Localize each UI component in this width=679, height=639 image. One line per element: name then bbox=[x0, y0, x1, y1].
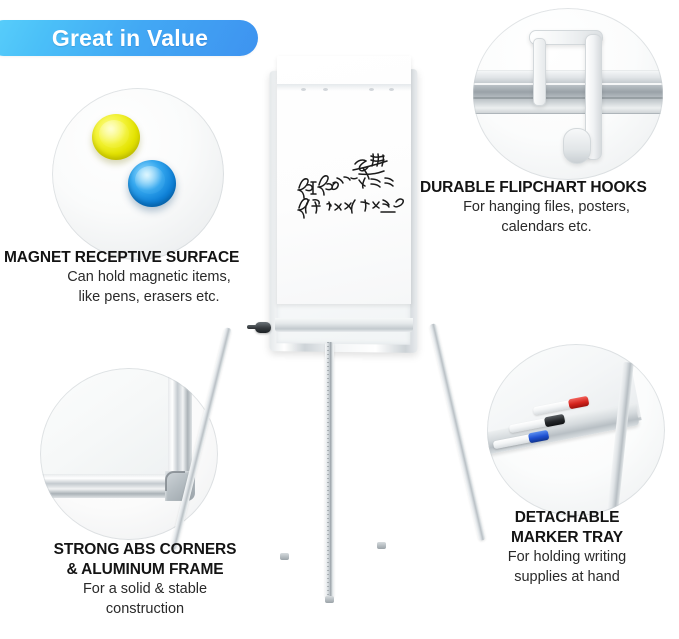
hook-left-bar bbox=[533, 38, 546, 106]
flipchart-paper-pad bbox=[277, 56, 411, 304]
leg-foot bbox=[377, 542, 386, 549]
marker-tray bbox=[275, 318, 413, 332]
feature-title: MAGNET RECEPTIVE SURFACE bbox=[4, 248, 280, 268]
infographic-canvas: Great in Value bbox=[0, 0, 679, 639]
board-surface bbox=[40, 368, 186, 478]
frame-corner-photo bbox=[40, 368, 218, 540]
feature-description-line-2: construction bbox=[16, 600, 274, 619]
feature-title-line-1: DETACHABLE bbox=[460, 508, 674, 528]
value-banner-label: Great in Value bbox=[36, 25, 208, 52]
feature-detachable-marker-tray: DETACHABLE MARKER TRAY For holding writi… bbox=[460, 508, 674, 587]
blue-magnet-icon bbox=[128, 160, 176, 207]
hook-tip bbox=[563, 128, 591, 164]
feature-description-line-2: calendars etc. bbox=[420, 218, 679, 237]
easel-leg-center bbox=[325, 342, 334, 598]
feature-title: DURABLE FLIPCHART HOOKS bbox=[420, 178, 679, 198]
feature-description-line-1: Can hold magnetic items, bbox=[4, 268, 280, 287]
yellow-magnet-icon bbox=[92, 114, 140, 160]
magnet-photo bbox=[52, 88, 224, 260]
feature-description-line-2: like pens, erasers etc. bbox=[4, 288, 280, 307]
leg-foot bbox=[280, 553, 289, 560]
feature-description-line-1: For holding writing bbox=[460, 548, 674, 567]
flipchart-hook-photo bbox=[473, 8, 663, 180]
feature-strong-abs-corners: STRONG ABS CORNERS & ALUMINUM FRAME For … bbox=[16, 540, 274, 619]
feature-description-line-1: For hanging files, posters, bbox=[420, 198, 679, 217]
value-banner: Great in Value bbox=[0, 20, 258, 56]
feature-title-line-2: MARKER TRAY bbox=[460, 528, 674, 548]
leg-foot bbox=[325, 596, 334, 603]
marker-tray-photo bbox=[487, 344, 665, 516]
feature-title-line-1: STRONG ABS CORNERS bbox=[16, 540, 274, 560]
feature-title-line-2: & ALUMINUM FRAME bbox=[16, 560, 274, 580]
feature-description-line-2: supplies at hand bbox=[460, 568, 674, 587]
height-adjust-knob bbox=[255, 322, 271, 333]
feature-durable-flipchart-hooks: DURABLE FLIPCHART HOOKS For hanging file… bbox=[420, 178, 679, 237]
plastic-hook-icon bbox=[529, 30, 601, 158]
feature-magnet-receptive-surface: MAGNET RECEPTIVE SURFACE Can hold magnet… bbox=[4, 248, 280, 307]
feature-description-line-1: For a solid & stable bbox=[16, 580, 274, 599]
frame-vertical-rail bbox=[168, 368, 192, 478]
flipchart-easel-product bbox=[215, 56, 465, 608]
